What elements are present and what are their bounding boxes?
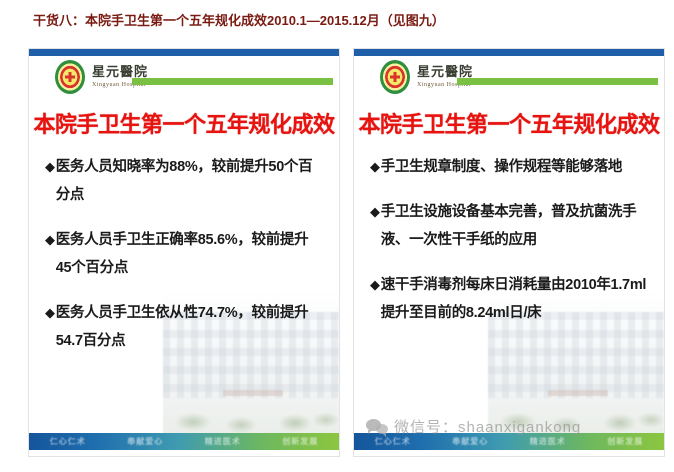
- slide-bullet-list: ◆ 医务人员知晓率为88%，较前提升50个百分点 ◆ 医务人员手卫生正确率85.…: [29, 153, 339, 372]
- footer-word: 创新发展: [607, 436, 643, 447]
- footer-word: 仁心仁术: [50, 436, 86, 447]
- list-item-text: 速干手消毒剂每床日消耗量由2010年1.7ml提升至目前的8.24ml日/床: [381, 271, 648, 327]
- slide-footer-band: 仁心仁术 奉献爱心 精进医术 创新发展: [354, 433, 664, 450]
- list-item: ◆ 手卫生设施设备基本完善，普及抗菌洗手液、一次性干手纸的应用: [370, 198, 648, 254]
- slide-header: 星元醫院 Xingyuan Hospital: [354, 56, 664, 100]
- hospital-emblem-icon: [380, 60, 410, 94]
- list-item: ◆ 医务人员手卫生依从性74.7%，较前提升54.7百分点: [45, 299, 323, 355]
- slide-top-bar: [354, 49, 664, 56]
- list-item: ◆ 速干手消毒剂每床日消耗量由2010年1.7ml提升至目前的8.24ml日/床: [370, 271, 648, 327]
- slide-left: 星元醫院 Xingyuan Hospital 本院手卫生第一个五年规化成效 ◆ …: [28, 48, 340, 457]
- hospital-emblem-icon: [55, 60, 85, 94]
- diamond-bullet-icon: ◆: [370, 198, 380, 226]
- footer-word: 奉献爱心: [127, 436, 163, 447]
- hospital-logo: 星元醫院 Xingyuan Hospital: [380, 60, 473, 94]
- footer-word: 仁心仁术: [375, 436, 411, 447]
- hospital-logo: 星元醫院 Xingyuan Hospital: [55, 60, 148, 94]
- list-item-text: 医务人员手卫生依从性74.7%，较前提升54.7百分点: [56, 299, 323, 355]
- page-title: 干货八：本院手卫生第一个五年规化成效2010.1—2015.12月（见图九）: [33, 12, 445, 30]
- footer-word: 精进医术: [530, 436, 566, 447]
- slide-header: 星元醫院 Xingyuan Hospital: [29, 56, 339, 100]
- diamond-bullet-icon: ◆: [45, 153, 55, 181]
- diamond-bullet-icon: ◆: [45, 299, 55, 327]
- diamond-bullet-icon: ◆: [45, 226, 55, 254]
- footer-word: 奉献爱心: [452, 436, 488, 447]
- list-item: ◆ 医务人员知晓率为88%，较前提升50个百分点: [45, 153, 323, 209]
- list-item: ◆ 医务人员手卫生正确率85.6%，较前提升45个百分点: [45, 226, 323, 282]
- slide-footer-band: 仁心仁术 奉献爱心 精进医术 创新发展: [29, 433, 339, 450]
- slide-bullet-list: ◆ 手卫生规章制度、操作规程等能够落地 ◆ 手卫生设施设备基本完善，普及抗菌洗手…: [354, 153, 664, 344]
- list-item-text: 医务人员手卫生正确率85.6%，较前提升45个百分点: [56, 226, 323, 282]
- diamond-bullet-icon: ◆: [370, 153, 380, 181]
- slide-heading: 本院手卫生第一个五年规化成效: [29, 107, 339, 139]
- list-item-text: 手卫生规章制度、操作规程等能够落地: [381, 153, 648, 181]
- list-item: ◆ 手卫生规章制度、操作规程等能够落地: [370, 153, 648, 181]
- slide-pair-container: 星元醫院 Xingyuan Hospital 本院手卫生第一个五年规化成效 ◆ …: [0, 48, 674, 460]
- list-item-text: 医务人员知晓率为88%，较前提升50个百分点: [56, 153, 323, 209]
- list-item-text: 手卫生设施设备基本完善，普及抗菌洗手液、一次性干手纸的应用: [381, 198, 648, 254]
- footer-word: 精进医术: [205, 436, 241, 447]
- slide-right: 星元醫院 Xingyuan Hospital 本院手卫生第一个五年规化成效 ◆ …: [353, 48, 665, 457]
- footer-word: 创新发展: [282, 436, 318, 447]
- slide-top-bar: [29, 49, 339, 56]
- header-green-rule: [457, 78, 658, 85]
- header-green-rule: [132, 78, 333, 85]
- diamond-bullet-icon: ◆: [370, 271, 380, 299]
- slide-heading: 本院手卫生第一个五年规化成效: [354, 107, 664, 139]
